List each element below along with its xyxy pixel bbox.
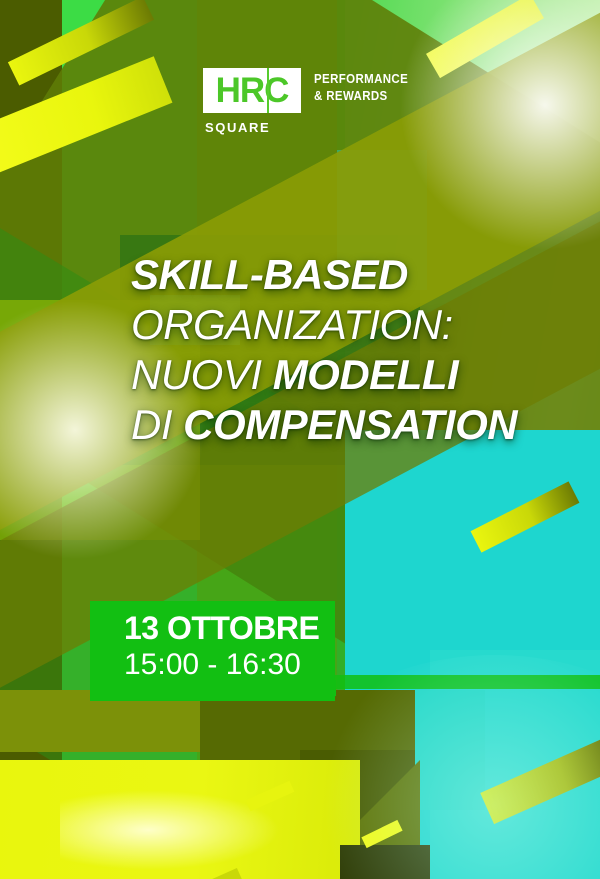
hrc-logo-text: HRC: [216, 73, 289, 108]
poster-content: HRC PERFORMANCE & REWARDS SQUARE SKILL-B…: [0, 0, 600, 879]
brand-logo: HRC PERFORMANCE & REWARDS: [203, 68, 416, 113]
event-time: 15:00 - 16:30: [124, 650, 319, 681]
brand-tagline: PERFORMANCE & REWARDS: [314, 71, 408, 104]
headline-line-1: SKILL-BASED: [131, 250, 561, 300]
headline-line-4-bold: COMPENSATION: [183, 401, 517, 448]
headline-line-3-light: NUOVI: [131, 351, 273, 398]
hrc-logo-mark: HRC: [203, 68, 301, 113]
event-details: 13 OTTOBRE 15:00 - 16:30: [124, 612, 319, 680]
hrc-logo-divider: [267, 68, 269, 113]
headline-line-3-bold: MODELLI: [273, 351, 458, 398]
headline-line-4-light: DI: [131, 401, 183, 448]
headline-line-2: ORGANIZATION:: [131, 300, 561, 350]
brand-subtitle: SQUARE: [205, 120, 270, 135]
event-poster: HRC PERFORMANCE & REWARDS SQUARE SKILL-B…: [0, 0, 600, 879]
headline-line-4: DI COMPENSATION: [131, 400, 561, 450]
headline-line-3: NUOVI MODELLI: [131, 350, 561, 400]
event-date: 13 OTTOBRE: [124, 612, 319, 645]
page-title: SKILL-BASED ORGANIZATION: NUOVI MODELLI …: [131, 250, 561, 450]
